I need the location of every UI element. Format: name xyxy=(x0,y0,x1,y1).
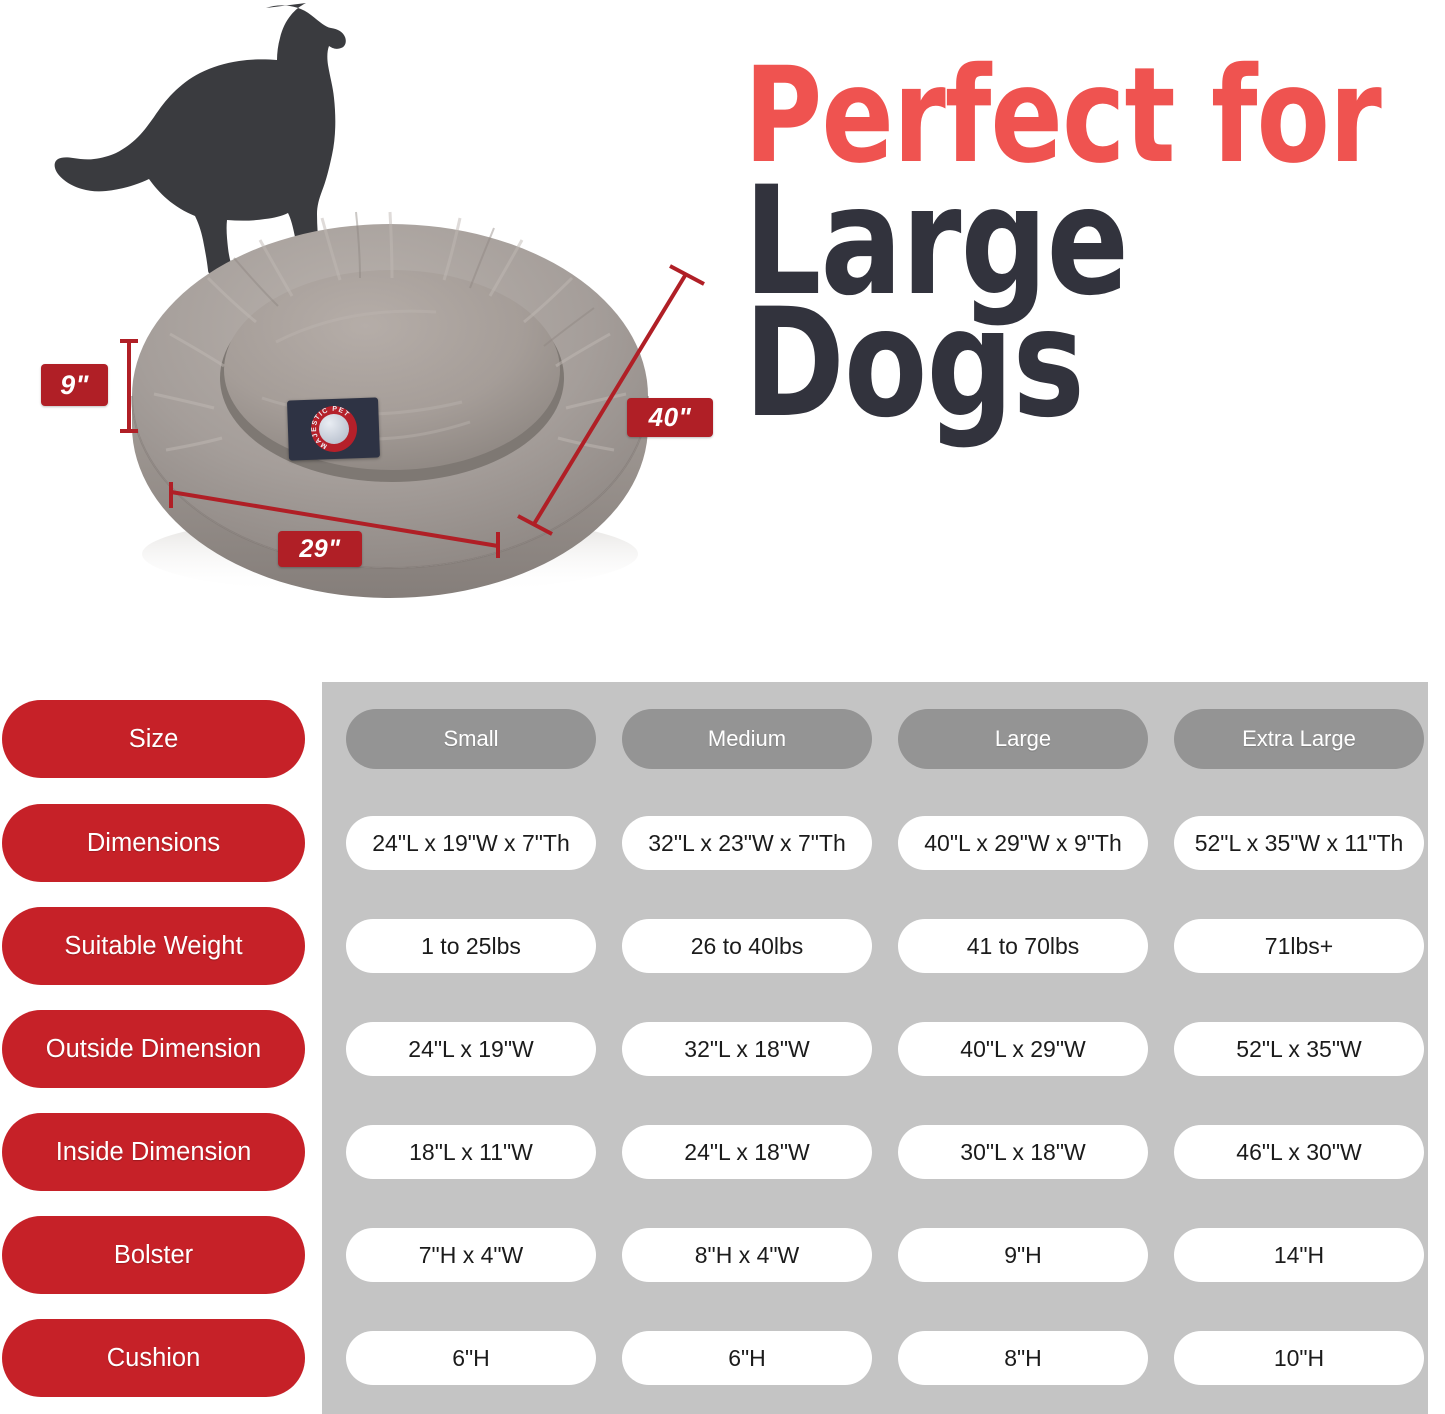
row-label-dimensions: Dimensions xyxy=(2,804,305,882)
table-cell: 8"H x 4"W xyxy=(622,1228,872,1282)
column-header-small: Small xyxy=(346,709,596,769)
height-dimension-label: 9" xyxy=(41,364,108,406)
table-cell: 32"L x 23"W x 7"Th xyxy=(622,816,872,870)
table-cell: 30"L x 18"W xyxy=(898,1125,1148,1179)
table-cell: 32"L x 18"W xyxy=(622,1022,872,1076)
table-cell: 6"H xyxy=(346,1331,596,1385)
table-cell: 7"H x 4"W xyxy=(346,1228,596,1282)
row-label-outside-dimension: Outside Dimension xyxy=(2,1010,305,1088)
width-dimension-label: 29" xyxy=(278,531,362,567)
table-cell: 24"L x 19"W xyxy=(346,1022,596,1076)
spec-grid-panel: SmallMediumLargeExtra Large24"L x 19"W x… xyxy=(322,682,1428,1414)
column-header-medium: Medium xyxy=(622,709,872,769)
height-dimension-line xyxy=(118,338,140,434)
table-cell: 1 to 25lbs xyxy=(346,919,596,973)
table-cell: 10"H xyxy=(1174,1331,1424,1385)
column-header-extra-large: Extra Large xyxy=(1174,709,1424,769)
table-cell: 26 to 40lbs xyxy=(622,919,872,973)
specification-table: SizeDimensionsSuitable WeightOutside Dim… xyxy=(0,672,1445,1414)
brand-tag-label: MAJESTIC PET xyxy=(287,397,380,460)
row-label-suitable-weight: Suitable Weight xyxy=(2,907,305,985)
table-cell: 24"L x 19"W x 7"Th xyxy=(346,816,596,870)
table-cell: 46"L x 30"W xyxy=(1174,1125,1424,1179)
page-title: Perfect for Large Dogs xyxy=(744,58,1444,430)
table-cell: 71lbs+ xyxy=(1174,919,1424,973)
brand-tag: MAJESTIC PET xyxy=(287,397,380,460)
row-label-size: Size xyxy=(2,700,305,778)
row-label-column: SizeDimensionsSuitable WeightOutside Dim… xyxy=(0,672,322,1414)
table-cell: 52"L x 35"W xyxy=(1174,1022,1424,1076)
row-label-cushion: Cushion xyxy=(2,1319,305,1397)
table-cell: 9"H xyxy=(898,1228,1148,1282)
table-cell: 18"L x 11"W xyxy=(346,1125,596,1179)
table-cell: 41 to 70lbs xyxy=(898,919,1148,973)
table-cell: 14"H xyxy=(1174,1228,1424,1282)
hero-section: MAJESTIC PET 9" 29" 40" Perfect for Larg… xyxy=(0,0,1445,672)
table-cell: 6"H xyxy=(622,1331,872,1385)
table-cell: 40"L x 29"W xyxy=(898,1022,1148,1076)
headline-line-3: Dogs xyxy=(744,298,1374,430)
length-dimension-label: 40" xyxy=(627,398,713,437)
column-header-large: Large xyxy=(898,709,1148,769)
table-cell: 52"L x 35"W x 11"Th xyxy=(1174,816,1424,870)
svg-text:MAJESTIC PET: MAJESTIC PET xyxy=(310,405,352,450)
row-label-bolster: Bolster xyxy=(2,1216,305,1294)
table-cell: 40"L x 29"W x 9"Th xyxy=(898,816,1148,870)
row-label-inside-dimension: Inside Dimension xyxy=(2,1113,305,1191)
table-cell: 24"L x 18"W xyxy=(622,1125,872,1179)
table-cell: 8"H xyxy=(898,1331,1148,1385)
